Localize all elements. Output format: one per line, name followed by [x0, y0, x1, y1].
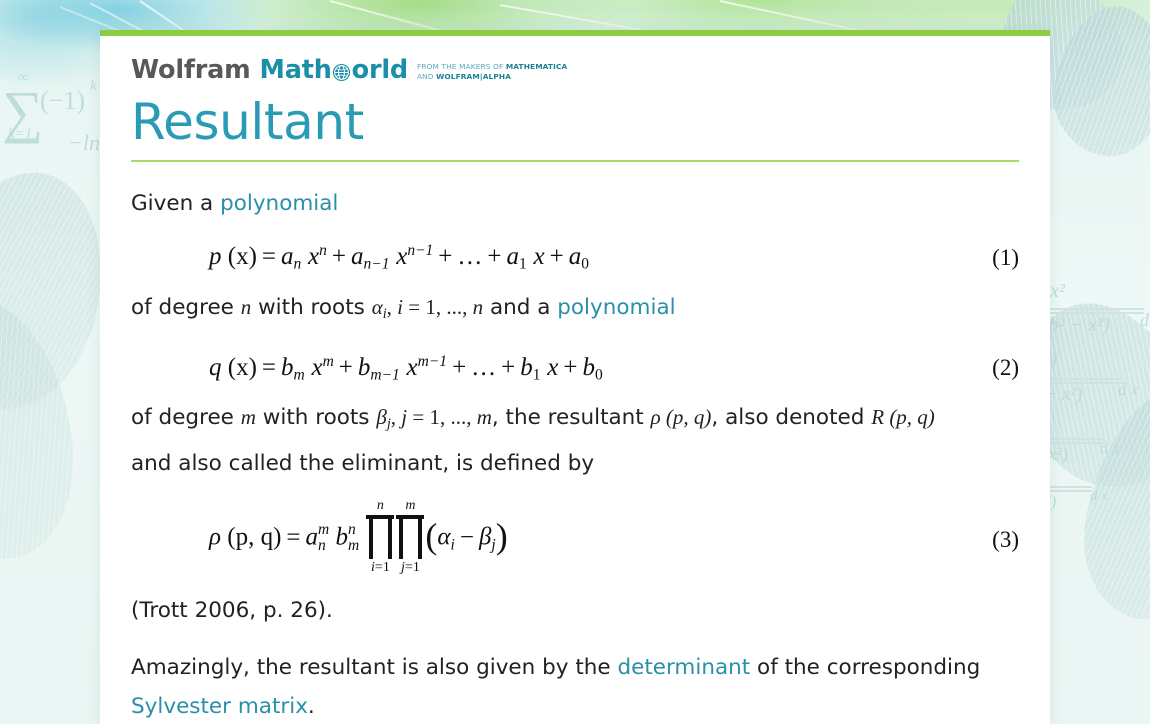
tagline-line1-bold: MATHEMATICA — [506, 62, 568, 71]
link-determinant[interactable]: determinant — [617, 655, 750, 680]
eq3-beta: β — [479, 524, 491, 551]
eq1-plus-4: + — [545, 243, 569, 270]
p3-R: R — [871, 405, 884, 429]
eq1-x2: x — [396, 243, 407, 270]
p2-var-n: n — [241, 295, 252, 319]
eq3-product-1-lower: i=1 — [371, 561, 390, 575]
equation-1-body: p (x)=an xn+an−1 xn−1+…+a1 x+a0 — [131, 231, 959, 284]
eq3-alpha: α — [437, 524, 450, 551]
p2-seg3: , — [387, 295, 398, 319]
p3-seg1: of degree — [131, 405, 241, 430]
eq1-plus-1: + — [327, 243, 351, 270]
p1-text: Given a — [131, 191, 220, 216]
paragraph-eliminant: and also called the eliminant, is define… — [131, 444, 1019, 483]
link-polynomial-2[interactable]: polynomial — [557, 295, 675, 320]
equation-2-number: (2) — [959, 348, 1019, 387]
paragraph-degree-m: of degree m with roots βj, j = 1, ..., m… — [131, 398, 1019, 444]
eq2-x2-sup: m−1 — [418, 353, 447, 370]
eq1-a4: a — [569, 243, 582, 270]
paragraph-determinant: Amazingly, the resultant is also given b… — [131, 648, 1019, 724]
eq2-b4-sub: 0 — [595, 366, 603, 383]
background-frac3-differential: d x — [1100, 440, 1119, 458]
eq3-p1-eq: = — [375, 560, 383, 575]
equation-3-number: (3) — [959, 520, 1019, 559]
p3-one: 1 — [429, 405, 440, 429]
eq3-product-2-upper: m — [405, 499, 415, 513]
tagline-line-1: FROM THE MAKERS OF MATHEMATICA — [417, 62, 567, 71]
article-body: Given a polynomial p (x)=an xn+an−1 xn−1… — [131, 162, 1019, 724]
p2-alpha: α — [372, 295, 383, 319]
eq2-x3: x — [547, 354, 558, 381]
eq1-a2-sub: n−1 — [363, 256, 389, 273]
eq2-ellipsis: … — [471, 354, 496, 381]
background-sum-tail: −ln — [68, 130, 100, 156]
background-frac1-differential: d x — [1140, 310, 1150, 331]
eq1-x3: x — [534, 243, 545, 270]
eq2-lhs-args: (x) — [222, 354, 257, 381]
equation-1: p (x)=an xn+an−1 xn−1+…+a1 x+a0 (1) — [131, 231, 1019, 284]
eq1-a4-sub: 0 — [581, 256, 589, 273]
eq1-x: x — [308, 243, 319, 270]
eq3-lhs-args: (p, q) — [221, 524, 281, 551]
p2-seg4: , ..., — [436, 295, 473, 319]
equation-2-body: q (x)=bm xm+bm−1 xm−1+…+b1 x+b0 — [131, 342, 959, 395]
background-frac1-numerator: x² — [1050, 280, 1065, 303]
content-card: Wolfram Math orld FROM THE — [100, 30, 1050, 724]
p3-rho-args: (p, q) — [661, 405, 712, 429]
p3-seg6: , also denoted — [711, 405, 871, 430]
eq3-p2-eq: = — [405, 560, 413, 575]
eq3-b: b — [335, 524, 348, 551]
eq2-b2: b — [358, 354, 371, 381]
background-frac4-differential: d x — [1090, 488, 1108, 505]
eq2-b2-sub: m−1 — [370, 366, 399, 383]
eq3-p1-val: 1 — [383, 560, 390, 575]
p2-seg1: of degree — [131, 295, 241, 320]
eq3-p2-val: 1 — [413, 560, 420, 575]
eq3-product-1: ni=1 — [366, 499, 394, 575]
p2-one: 1 — [425, 295, 436, 319]
eq2-x: x — [311, 354, 322, 381]
eq1-a: a — [281, 243, 294, 270]
background-sum-lower: k=1 — [8, 126, 32, 143]
p3-var-m: m — [241, 405, 256, 429]
eq3-b-scripts: nm — [348, 522, 359, 554]
eq1-lhs-args: (x) — [222, 243, 257, 270]
logo-math-text: Math — [260, 58, 332, 84]
equation-2: q (x)=bm xm+bm−1 xm−1+…+b1 x+b0 (2) — [131, 342, 1019, 395]
eq3-product-2: mj=1 — [396, 499, 424, 575]
eq1-plus-2: + — [433, 243, 457, 270]
p3-seg4: , ..., — [440, 405, 477, 429]
eq3-rho: ρ — [209, 524, 221, 551]
p3-equals: = — [407, 405, 429, 429]
eq3-product-1-upper: n — [377, 499, 384, 513]
logo-world-text: orld — [352, 58, 408, 84]
p2-seg2: with roots — [251, 295, 371, 320]
logo-mathworld-text: Math orld — [260, 58, 408, 84]
eq3-a-sup: m — [318, 522, 329, 538]
eq2-b4: b — [583, 354, 596, 381]
eq2-x2: x — [407, 354, 418, 381]
page-title: Resultant — [131, 94, 1019, 150]
eq1-x2-sup: n−1 — [407, 242, 433, 259]
product-icon — [396, 515, 424, 559]
eq3-product-2-lower: j=1 — [401, 561, 420, 575]
eq3-paren-open: ( — [425, 516, 437, 556]
paragraph-citation: (Trott 2006, p. 26). — [131, 591, 1019, 630]
logo-wolfram-text: Wolfram — [131, 58, 251, 84]
eq2-b3-sub: 1 — [533, 366, 541, 383]
eq1-a2: a — [351, 243, 364, 270]
paragraph-degree-n: of degree n with roots αi, i = 1, ..., n… — [131, 288, 1019, 334]
eq2-plus-1: + — [334, 354, 358, 381]
logo-tagline: FROM THE MAKERS OF MATHEMATICA AND WOLFR… — [417, 58, 567, 81]
tagline-line-2: AND WOLFRAM|ALPHA — [417, 72, 511, 81]
eq3-a-sub: n — [318, 538, 329, 554]
p2-equals: = — [403, 295, 425, 319]
p5-seg2: of the corresponding — [750, 655, 980, 680]
p3-rho: ρ — [651, 405, 661, 429]
eq3-b-sub: m — [348, 538, 359, 554]
tagline-line2-prefix: AND — [417, 72, 436, 81]
eq2-b-sub: m — [294, 366, 305, 383]
eq2-b: b — [281, 354, 294, 381]
link-sylvester-matrix[interactable]: Sylvester matrix — [131, 694, 308, 719]
eq1-lhs-fn: p — [209, 243, 222, 270]
background-frac1-bar — [1044, 308, 1144, 310]
p3-seg3: , — [391, 405, 402, 429]
background-frac1-denominator: (b² − x²) — [1042, 314, 1110, 337]
eq1-x-sup: n — [319, 242, 327, 259]
equation-3: ρ (p, q)=amn bnm ni=1mj=1(αi−βj) (3) — [131, 501, 1019, 577]
p3-R-args: (p, q) — [884, 405, 935, 429]
equation-1-number: (1) — [959, 238, 1019, 277]
site-logo[interactable]: Wolfram Math orld FROM THE — [131, 58, 1019, 88]
eq2-x-sup: m — [323, 353, 334, 370]
background-frac2-differential: d x — [1118, 380, 1138, 400]
background-sum-body: (−1) — [40, 86, 85, 116]
eq2-equals: = — [257, 354, 281, 381]
eq2-plus-3: + — [496, 354, 520, 381]
tagline-line2-bold: WOLFRAM|ALPHA — [436, 72, 511, 81]
eq1-ellipsis: … — [457, 243, 482, 270]
p5-seg3: . — [308, 694, 315, 719]
eq3-equals: = — [281, 524, 305, 551]
p5-seg1: Amazingly, the resultant is also given b… — [131, 655, 617, 680]
eq1-plus-3: + — [482, 243, 506, 270]
globe-icon — [332, 62, 351, 81]
eq3-a: a — [306, 524, 319, 551]
eq3-paren-close: ) — [496, 516, 508, 556]
p2-seg5: and a — [483, 295, 557, 320]
p3-seg2: with roots — [256, 405, 376, 430]
eq2-plus-2: + — [447, 354, 471, 381]
eq1-equals: = — [257, 243, 281, 270]
eq1-a3-sub: 1 — [519, 256, 527, 273]
tagline-line1-prefix: FROM THE MAKERS OF — [417, 62, 506, 71]
p3-seg5: , the resultant — [492, 405, 651, 430]
eq2-plus-4: + — [558, 354, 582, 381]
p3-beta: β — [376, 405, 386, 429]
eq2-b3: b — [520, 354, 533, 381]
eq3-b-sup: n — [348, 522, 359, 538]
eq1-a3: a — [507, 243, 520, 270]
equation-3-body: ρ (p, q)=amn bnm ni=1mj=1(αi−βj) — [131, 501, 959, 577]
paragraph-given-polynomial: Given a polynomial — [131, 184, 1019, 223]
eq3-a-scripts: mn — [318, 522, 329, 554]
p2-var-n2: n — [473, 295, 484, 319]
eq3-minus: − — [455, 524, 479, 551]
p3-var-m2: m — [477, 405, 492, 429]
product-icon — [366, 515, 394, 559]
eq2-lhs-fn: q — [209, 354, 222, 381]
link-polynomial[interactable]: polynomial — [220, 191, 338, 216]
